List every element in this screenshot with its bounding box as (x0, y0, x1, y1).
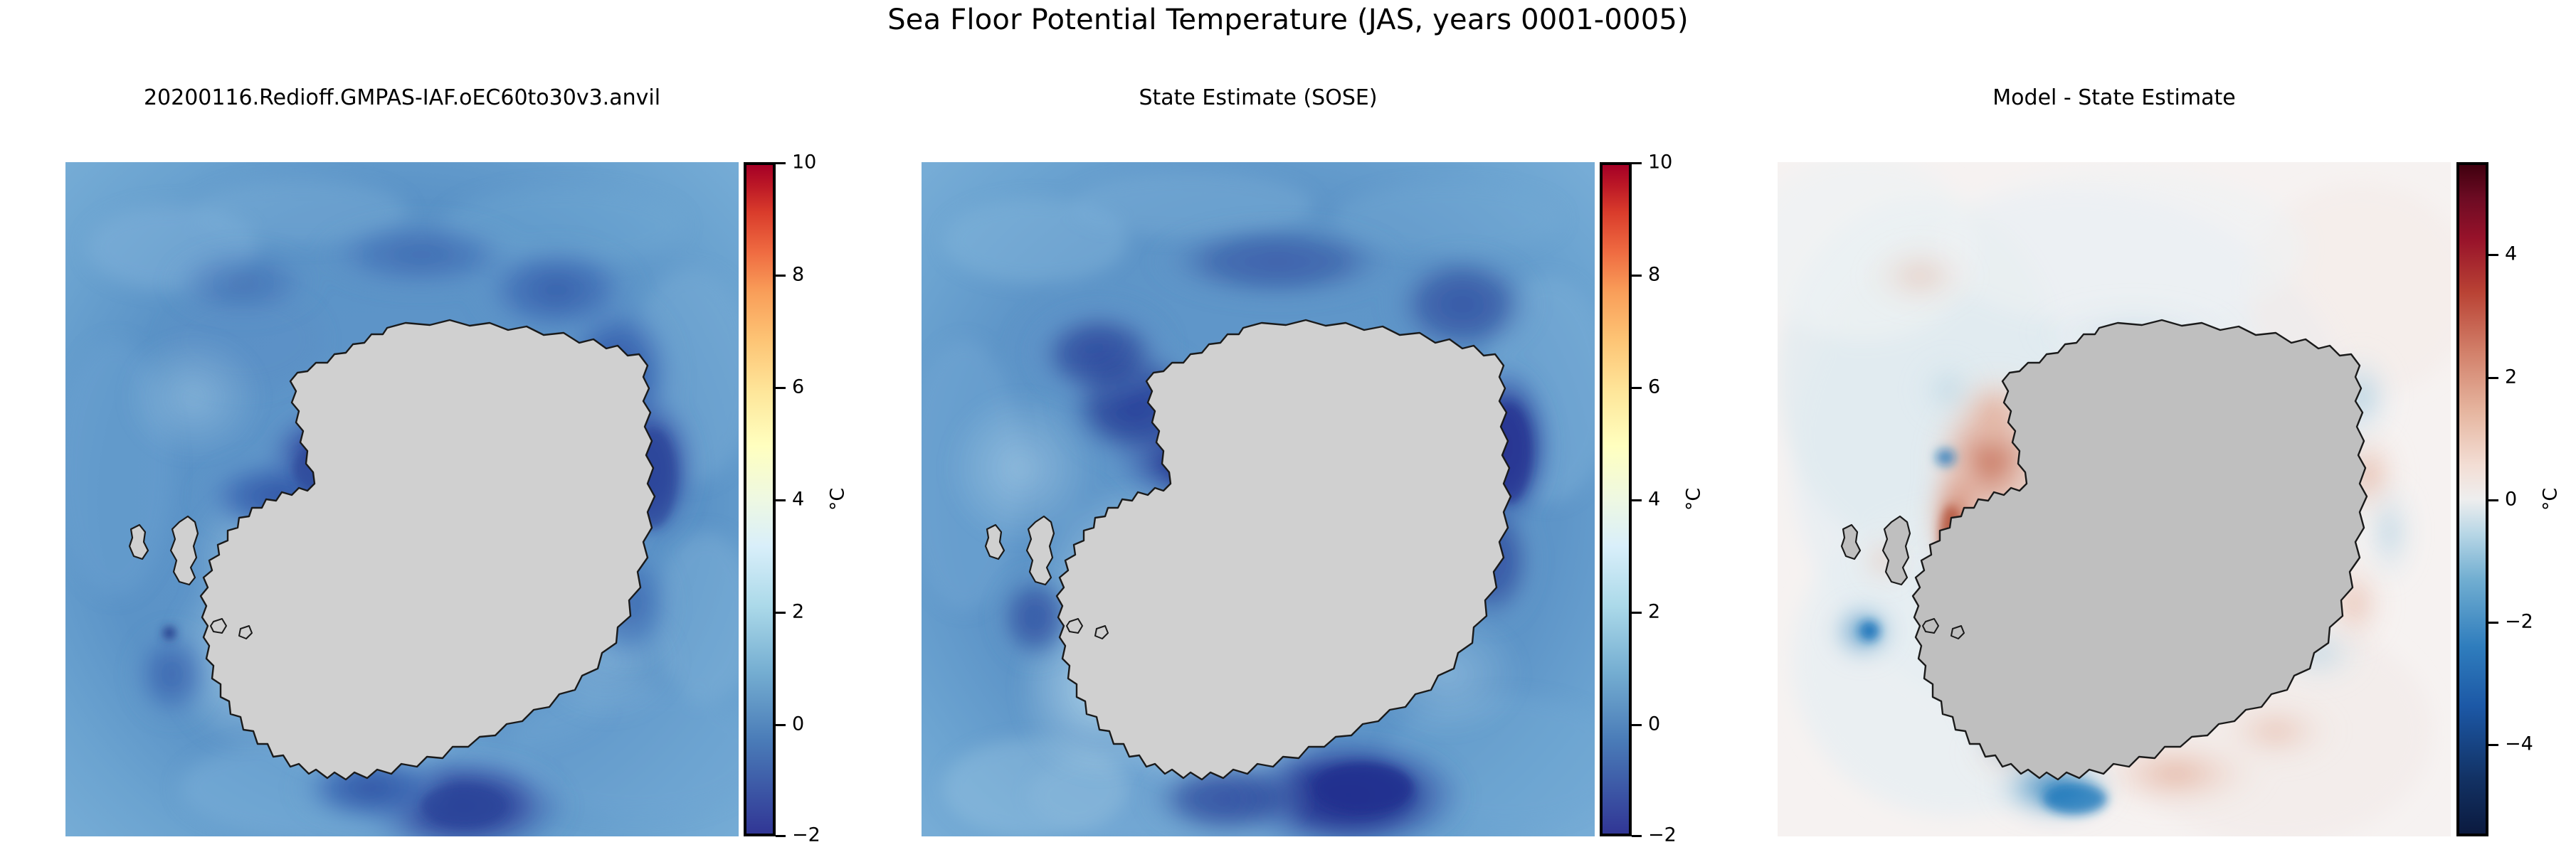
colorbar-tick-label: 2 (2505, 366, 2517, 388)
colorbar-gradient-state-estimate (1600, 162, 1632, 836)
colorbar-tick-label: 0 (792, 713, 804, 735)
colorbar-tick-label: 10 (1648, 151, 1672, 174)
colorbar-tick-label: 4 (1648, 489, 1660, 511)
figure-suptitle: Sea Floor Potential Temperature (JAS, ye… (0, 4, 2576, 36)
colorbar-tick (2488, 499, 2498, 501)
map-panel-model[interactable] (65, 162, 739, 836)
colorbar-tick-label: −2 (2505, 611, 2533, 633)
colorbar-tick (776, 612, 786, 614)
colorbar-tick (2488, 254, 2498, 256)
map-panel-difference[interactable] (1778, 162, 2451, 836)
colorbar-tick (776, 162, 786, 164)
colorbar-tick (2488, 377, 2498, 379)
colorbar-tick-label: 6 (1648, 376, 1660, 398)
colorbar-gradient-model (744, 162, 776, 836)
colorbar-tick (776, 499, 786, 501)
colorbar-tick-label: 6 (792, 376, 804, 398)
colorbar-tick-label: 4 (792, 489, 804, 511)
colorbar-tick-label: 2 (1648, 601, 1660, 623)
colorbar-unit-label: °C (2540, 488, 2562, 511)
colorbar-tick (2488, 744, 2498, 746)
colorbar-tick-label: 10 (792, 151, 816, 174)
panel-title-state-estimate: State Estimate (SOSE) (856, 85, 1660, 110)
figure-root: Sea Floor Potential Temperature (JAS, ye… (0, 0, 2576, 862)
colorbar-tick (776, 835, 786, 837)
colorbar-unit-label: °C (827, 488, 849, 511)
colorbar-tick-label: 4 (2505, 243, 2517, 265)
colorbar-tick (1632, 162, 1642, 164)
colorbar-tick (2488, 622, 2498, 624)
colorbar-tick-label: 0 (2505, 489, 2517, 511)
colorbar-tick (1632, 275, 1642, 277)
colorbar-tick (776, 275, 786, 277)
colorbar-tick (776, 724, 786, 726)
map-svg-state-estimate (922, 162, 1595, 836)
colorbar-gradient-difference (2456, 162, 2488, 836)
map-svg-difference (1778, 162, 2451, 836)
colorbar-tick-label: −2 (1648, 824, 1677, 846)
colorbar-tick-label: 0 (1648, 713, 1660, 735)
colorbar-tick-label: −4 (2505, 733, 2533, 755)
colorbar-tick (1632, 387, 1642, 389)
colorbar-tick (776, 387, 786, 389)
colorbar-unit-label: °C (1683, 488, 1705, 511)
panel-title-difference: Model - State Estimate (1712, 85, 2516, 110)
colorbar-tick-label: 8 (1648, 264, 1660, 286)
map-svg-model (65, 162, 739, 836)
colorbar-tick (1632, 499, 1642, 501)
colorbar-tick (1632, 612, 1642, 614)
colorbar-tick-label: 2 (792, 601, 804, 623)
panel-title-model: 20200116.Redioff.GMPAS-IAF.oEC60to30v3.a… (0, 85, 804, 110)
colorbar-tick-label: −2 (792, 824, 820, 846)
map-panel-state-estimate[interactable] (922, 162, 1595, 836)
colorbar-tick-label: 8 (792, 264, 804, 286)
colorbar-tick (1632, 724, 1642, 726)
colorbar-tick (1632, 835, 1642, 837)
